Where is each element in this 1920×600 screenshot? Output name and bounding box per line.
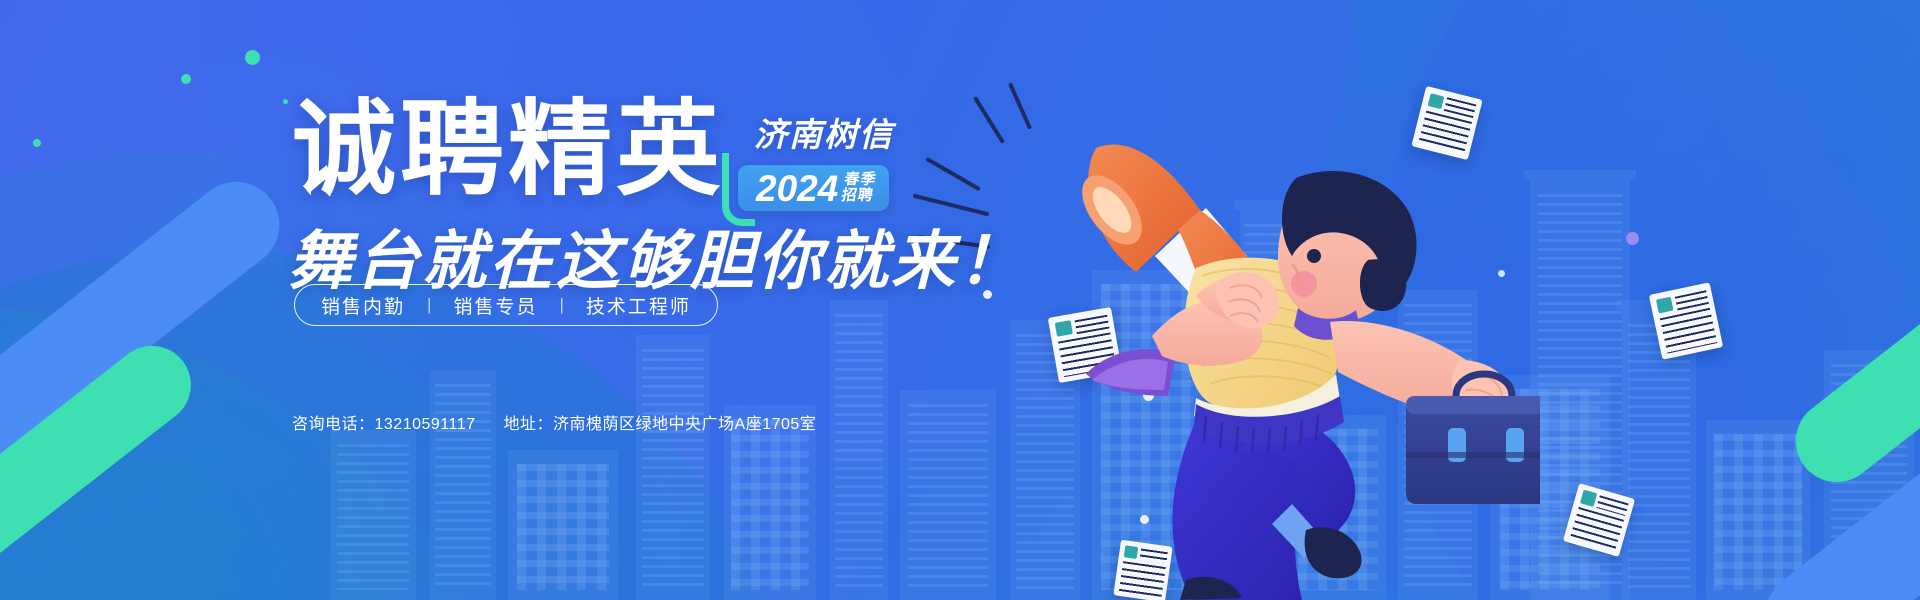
season-line-2: 招聘 xyxy=(840,188,875,204)
decor-dot xyxy=(245,50,260,65)
year-label: 2024 xyxy=(756,170,838,207)
job-separator: | xyxy=(559,295,563,315)
job-position-1[interactable]: 销售内勤 xyxy=(321,292,405,319)
decor-dot xyxy=(283,99,288,104)
decor-dot xyxy=(181,74,191,84)
job-position-3[interactable]: 技术工程师 xyxy=(586,292,691,319)
building xyxy=(330,430,416,600)
contact-info: 咨询电话：13210591117 地址：济南槐荫区绿地中央广场A座1705室 xyxy=(292,410,816,434)
building xyxy=(508,450,618,600)
job-separator: | xyxy=(427,295,431,315)
decor-dot xyxy=(33,139,41,147)
year-badge: 2024 春季 招聘 xyxy=(738,165,889,211)
headline-group: 诚聘精英 济南树信 2024 春季 招聘 xyxy=(292,98,894,211)
building xyxy=(724,405,816,600)
contact-address: 地址：济南槐荫区绿地中央广场A座1705室 xyxy=(504,410,817,434)
shoe-front xyxy=(1305,527,1362,578)
contact-phone: 咨询电话：13210591117 xyxy=(292,410,476,434)
page-title: 诚聘精英 xyxy=(292,98,724,202)
job-positions-pill: 销售内勤 | 销售专员 | 技术工程师 xyxy=(294,284,718,326)
decor-dot xyxy=(1626,232,1639,245)
recruitment-banner: 诚聘精英 济南树信 2024 春季 招聘 舞台就在这够胆你就来！ 销售内勤 | … xyxy=(0,0,1920,600)
building xyxy=(430,370,496,600)
job-position-2[interactable]: 销售专员 xyxy=(453,292,537,319)
brand-badge-group: 济南树信 2024 春季 招聘 xyxy=(738,108,894,211)
building xyxy=(830,300,888,600)
brand-name: 济南树信 xyxy=(738,108,894,156)
resume-paper-icon xyxy=(1649,282,1723,359)
person-with-megaphone-illustration xyxy=(900,60,1540,600)
season-line-1: 春季 xyxy=(843,172,878,188)
building xyxy=(636,335,710,600)
eye xyxy=(1307,249,1321,263)
season-label: 春季 招聘 xyxy=(840,172,878,204)
